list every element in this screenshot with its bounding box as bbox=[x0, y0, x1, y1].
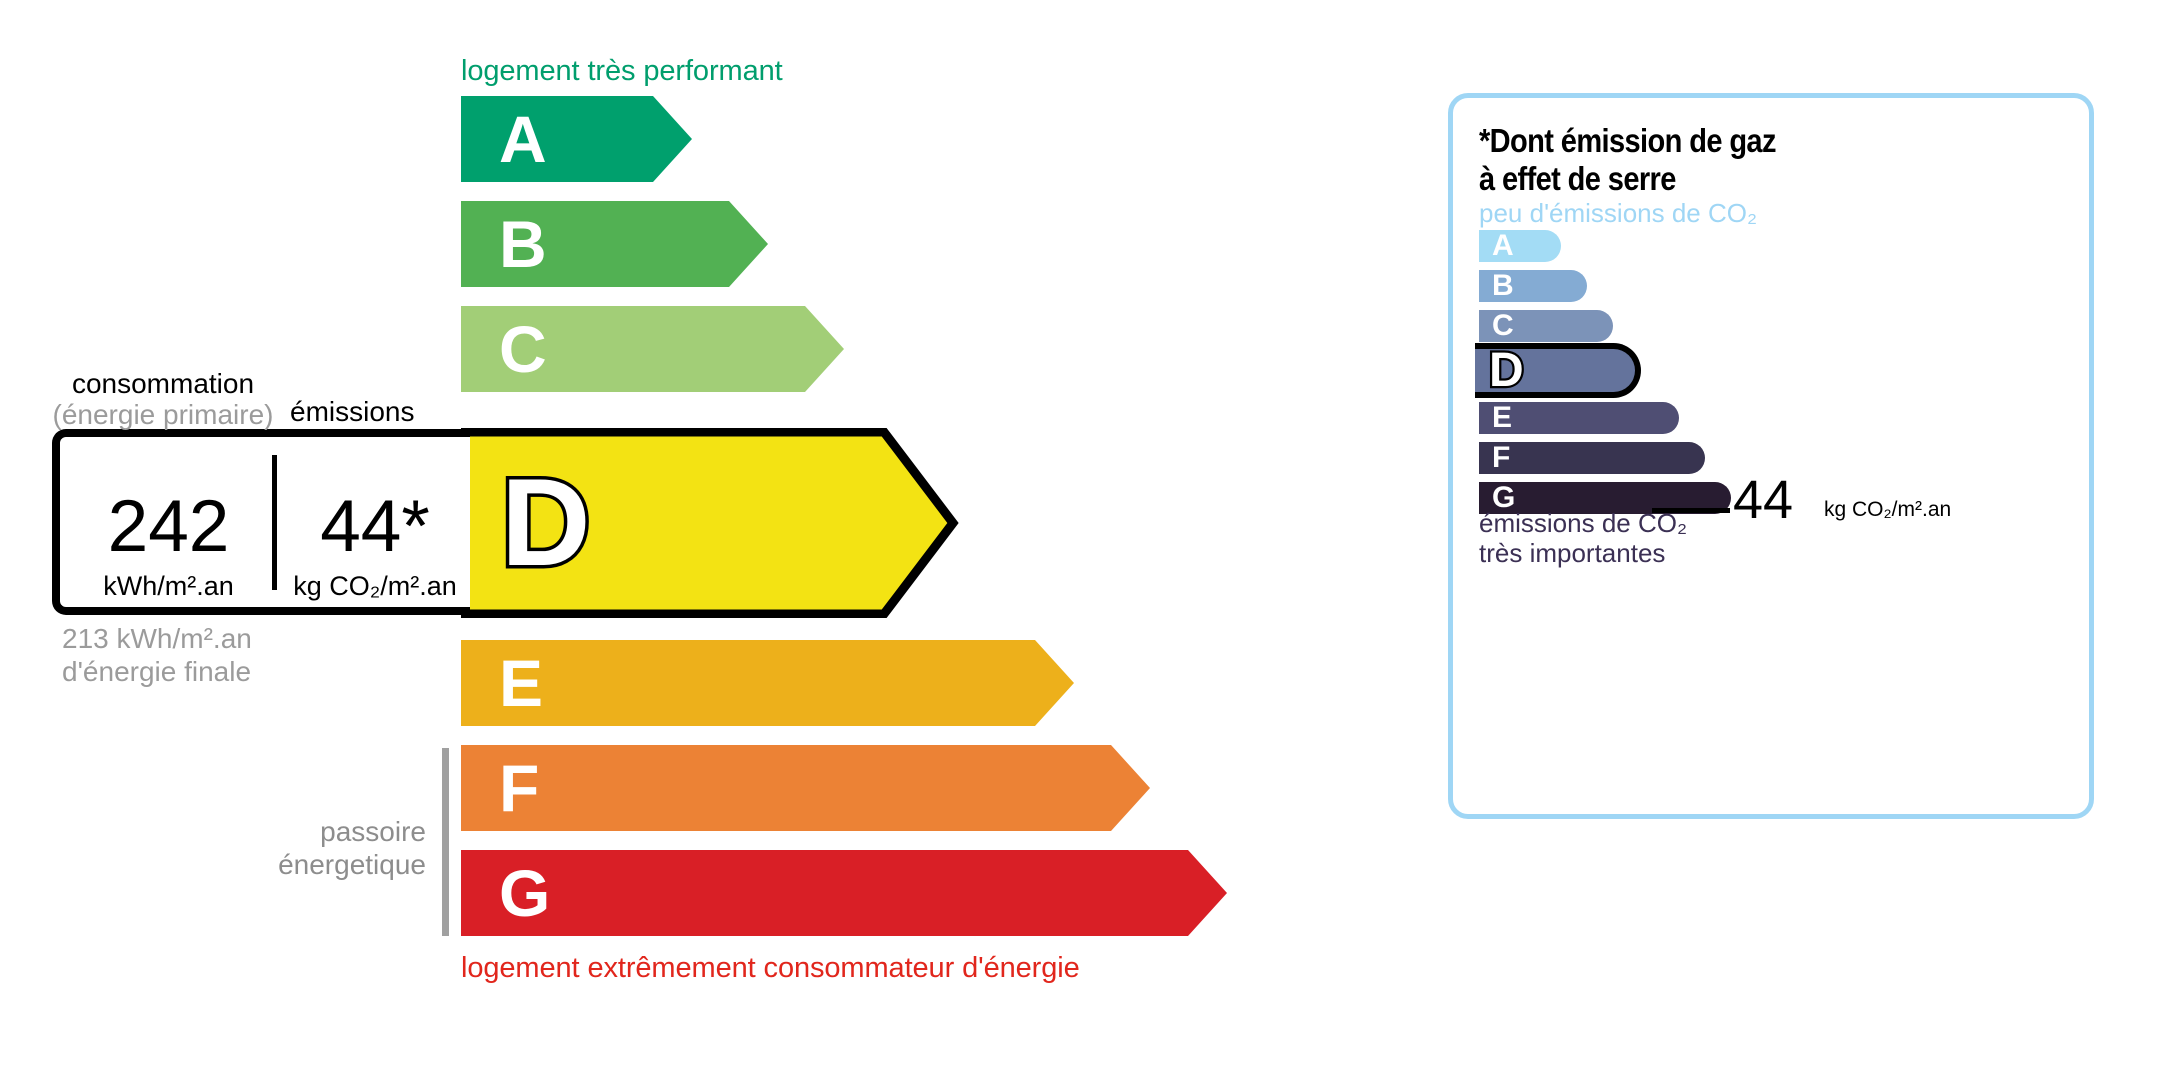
ges-callout-unit: kg CO₂/m².an bbox=[1824, 498, 1951, 522]
ges-bottom-line2: très importantes bbox=[1479, 538, 1687, 568]
ges-panel: *Dont émission de gaz à effet de serre p… bbox=[1448, 93, 2094, 819]
energy-performance-panel: logement très performant A B C bbox=[0, 0, 1400, 1079]
energy-band-g[interactable]: G bbox=[461, 850, 1227, 936]
energy-band-e[interactable]: E bbox=[461, 640, 1074, 726]
consumption-value-block: 242 kWh/m².an bbox=[66, 490, 271, 602]
energy-band-letter: A bbox=[499, 106, 547, 172]
emission-value: 44* bbox=[280, 490, 470, 563]
ges-bar-c[interactable]: C bbox=[1479, 310, 1613, 342]
final-energy-line2: d'énergie finale bbox=[62, 655, 252, 688]
passoire-line2: énergetique bbox=[200, 848, 426, 881]
energy-band-letter: E bbox=[499, 650, 543, 716]
final-energy-label: 213 kWh/m².an d'énergie finale bbox=[62, 622, 252, 688]
arrow-shape-icon bbox=[461, 96, 692, 182]
ges-bottom-label: émissions de CO₂ très importantes bbox=[1479, 508, 1687, 568]
ges-bar-a[interactable]: A bbox=[1479, 230, 1561, 262]
energy-band-a[interactable]: A bbox=[461, 96, 692, 182]
energy-band-c[interactable]: C bbox=[461, 306, 844, 392]
energy-band-letter: C bbox=[499, 316, 547, 382]
consumption-label-subtitle: (énergie primaire) bbox=[48, 399, 278, 430]
energy-bottom-label: logement extrêmement consommateur d'éner… bbox=[461, 952, 1080, 985]
ges-top-label: peu d'émissions de CO₂ bbox=[1479, 198, 1757, 229]
consumption-unit: kWh/m².an bbox=[66, 571, 271, 602]
ges-bar-e[interactable]: E bbox=[1479, 402, 1679, 434]
energy-band-f[interactable]: F bbox=[461, 745, 1150, 831]
consumption-label-title: consommation bbox=[48, 368, 278, 399]
ges-bar-d-current[interactable]: D bbox=[1475, 343, 1641, 398]
ges-callout-leader-line bbox=[1652, 508, 1730, 513]
passoire-marker-bar bbox=[442, 748, 449, 936]
emission-unit: kg CO₂/m².an bbox=[280, 571, 470, 602]
ges-bar-letter: A bbox=[1492, 231, 1514, 261]
energy-top-label: logement très performant bbox=[461, 55, 783, 88]
arrow-shape-icon bbox=[461, 745, 1150, 831]
ges-bar-letter: F bbox=[1492, 443, 1510, 473]
ges-bar-f[interactable]: F bbox=[1479, 442, 1705, 474]
final-energy-line1: 213 kWh/m².an bbox=[62, 622, 252, 655]
ges-bar-letter: C bbox=[1492, 311, 1514, 341]
ges-title-line2: à effet de serre bbox=[1479, 160, 1776, 198]
ges-title-line1: *Dont émission de gaz bbox=[1479, 122, 1776, 160]
energy-band-b[interactable]: B bbox=[461, 201, 768, 287]
arrow-shape-icon bbox=[461, 850, 1227, 936]
energy-band-letter: D bbox=[501, 461, 591, 585]
ges-bar-letter: D bbox=[1489, 347, 1524, 395]
ges-bar-letter: B bbox=[1492, 271, 1514, 301]
energy-band-letter: B bbox=[499, 211, 547, 277]
arrow-shape-icon bbox=[461, 640, 1074, 726]
energy-band-letter: F bbox=[499, 755, 539, 821]
ges-title: *Dont émission de gaz à effet de serre bbox=[1479, 122, 1776, 199]
consumption-value: 242 bbox=[66, 490, 271, 563]
dpe-ges-diagram: logement très performant A B C bbox=[0, 0, 2169, 1079]
ges-bar-b[interactable]: B bbox=[1479, 270, 1587, 302]
energy-band-letter: G bbox=[499, 860, 550, 926]
energy-band-d-current[interactable]: D bbox=[461, 428, 961, 618]
ges-bar-letter: E bbox=[1492, 403, 1512, 433]
emissions-label: émissions bbox=[290, 396, 414, 428]
emission-value-block: 44* kg CO₂/m².an bbox=[280, 490, 470, 602]
consumption-label: consommation (énergie primaire) bbox=[48, 368, 278, 431]
readout-divider bbox=[272, 455, 277, 590]
passoire-label: passoire énergetique bbox=[200, 815, 426, 881]
ges-callout-value: 44 bbox=[1733, 473, 1793, 527]
passoire-line1: passoire bbox=[200, 815, 426, 848]
